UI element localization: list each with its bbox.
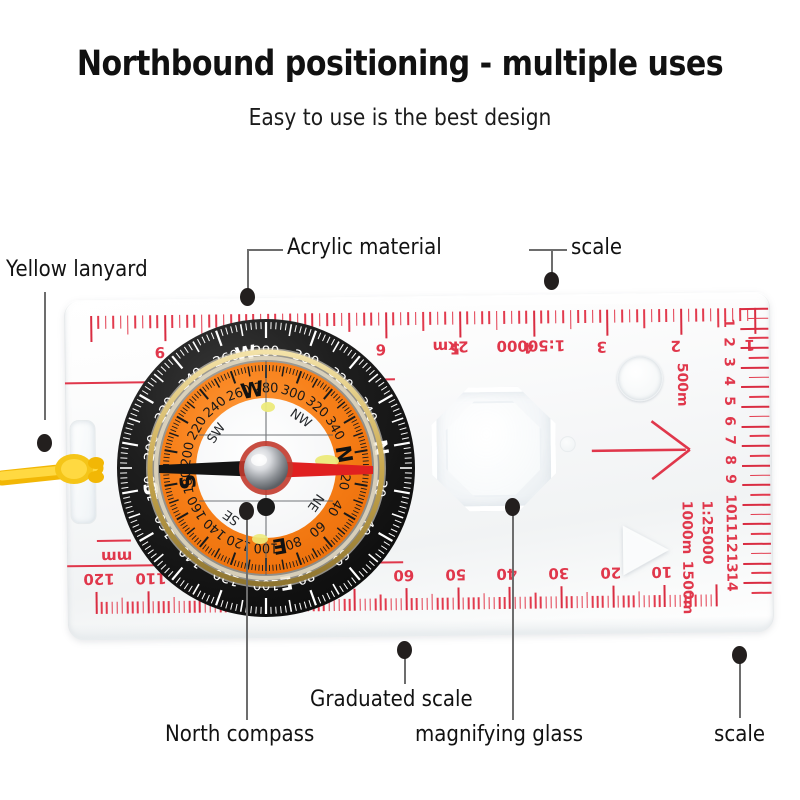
orienting-triangle-marker [623,525,670,576]
callout-dot-acrylic-material [240,288,255,306]
side-ruler-number: 4 [721,376,737,386]
mm-ruler-tick [592,596,594,608]
ruler-tick [496,311,498,330]
side-ruler-number: 10 [722,494,738,514]
ruler-tick [702,309,704,322]
ruler-tick [525,311,527,324]
side-ruler-tick [742,464,770,466]
side-ruler-number: 6 [721,416,737,426]
scale-2km-text: 2km [432,337,468,355]
callout-line-magnifying-glass [512,512,514,720]
mm-ruler-tick [111,602,113,614]
mm-ruler-tick [106,602,108,614]
mm-ruler-tick [638,591,640,607]
ruler-tick [688,309,690,322]
side-ruler-number: 2 [720,337,736,347]
bottom-ruler-number: 20 [600,564,621,582]
mm-ruler-tick [612,586,614,608]
ruler-tick [112,316,114,329]
side-ruler-number: 7 [722,435,738,445]
side-ruler-tick [742,484,770,486]
mm-ruler-tick [550,596,552,608]
ruler-tick [666,309,668,322]
side-ruler-tick [752,592,772,594]
side-ruler-tick [742,425,770,427]
ruler-tick [489,311,491,324]
mm-ruler-tick [483,593,485,609]
mm-ruler-tick [710,594,712,606]
pin-hole [560,436,576,452]
mm-ruler-tick [442,598,444,610]
side-ruler-tick [748,337,768,339]
callout-line-acrylic-vertical [247,249,249,291]
side-ruler-number: 12 [723,533,739,553]
ruler-tick [643,309,645,328]
ruler-tick [710,308,712,321]
mm-ruler-tick [628,595,630,607]
callout-line-yellow-lanyard [44,292,46,420]
dial-tick [164,478,170,479]
mm-ruler-tick [576,596,578,608]
side-ruler-tick [749,376,769,378]
callout-dot-north-compass [239,502,254,520]
mm-ruler-tick [659,595,661,607]
ruler-tick [422,312,424,331]
side-ruler-number: 9 [722,474,738,484]
mm-ruler-tick [617,596,619,608]
callout-label-scale-top: scale [571,235,622,260]
ruler-tick [459,311,461,337]
mm-ruler-tick [473,597,475,609]
bottom-ruler-number: 30 [548,564,569,582]
mm-ruler-tick [462,597,464,609]
callout-label-yellow-lanyard: Yellow lanyard [6,257,148,282]
side-ruler-tick [741,366,769,368]
side-ruler-number: 8 [722,455,738,465]
mm-ruler-tick [643,595,645,607]
side-ruler-tick [750,474,770,476]
callout-label-graduated-scale: Graduated scale [310,687,473,712]
ruler-tick [474,311,476,324]
infographic-page: Northbound positioning - multiple uses E… [0,0,800,800]
mm-ruler-tick [499,597,501,609]
ruler-tick [651,309,653,322]
top-ruler-number: 3 [597,338,608,356]
ruler-tick [429,312,431,325]
mm-ruler-tick [431,594,433,610]
page-subtitle: Easy to use is the best design [48,105,752,131]
side-ruler-tick [749,357,769,359]
ruler-tick [599,310,601,323]
callout-label-magnifying-glass: magnifying glass [415,722,583,747]
dial-tick [255,564,256,570]
mm-ruler-tick [437,598,439,610]
face-index-dot [257,498,275,516]
mm-ruler-tick [581,596,583,608]
side-ruler-tick [751,572,771,574]
dial-tick [362,478,368,479]
mm-ruler-tick [597,596,599,608]
mm-ruler-tick [468,597,470,609]
mm-ruler-tick [509,587,511,609]
ruler-tick [577,310,579,323]
ruler-tick [636,309,638,322]
callout-dot-magnifying-glass [505,498,520,516]
side-ruler-tick [749,415,769,417]
mm-ruler-tick [545,596,547,608]
ruler-tick [592,310,594,323]
ruler-tick [105,316,107,329]
ruler-tick [717,308,719,327]
ruler-tick [607,310,609,336]
ruler-tick [98,316,100,329]
side-ruler-tick [742,504,770,506]
ruler-tick [754,308,756,334]
ruler-tick [680,309,682,335]
mm-ruler-tick [514,597,516,609]
mm-ruler-tick [96,592,98,614]
north-compass-dial[interactable]: 2002202402602803003203402040608010012014… [115,317,417,619]
mm-ruler-tick [421,598,423,610]
side-ruler-tick [748,318,768,320]
mm-ruler-tick [607,596,609,608]
ruler-tick [511,311,513,324]
ruler-tick [555,310,557,323]
ruler-tick [444,312,446,325]
mm-ruler-tick [602,596,604,608]
ruler-tick [466,311,468,324]
mm-ruler-tick [654,595,656,607]
side-ruler-tick [743,543,771,545]
ruler-tick [437,312,439,325]
side-ruler-number: 11 [723,514,739,534]
mm-ruler-tick [101,602,103,614]
mm-ruler-tick [674,595,676,607]
mm-ruler-tick [457,588,459,610]
yellow-lanyard-cord [0,430,130,520]
side-ruler-tick [749,396,769,398]
mm-ruler-tick [623,596,625,608]
side-ruler-tick [751,553,771,555]
direction-of-travel-arrow-icon [589,415,700,486]
ruler-tick [518,311,520,324]
ruler-tick [695,309,697,322]
callout-label-north-compass: North compass [165,722,314,747]
callout-line-scale-bottom [739,658,741,718]
bottom-ruler-number: 50 [445,565,466,583]
ruler-tick [584,310,586,323]
scale-1500m-text: 1500m [679,561,696,615]
ruler-tick [548,310,550,323]
mm-ruler-tick [524,597,526,609]
callout-dot-graduated-scale [397,641,412,659]
top-ruler-number: 2 [671,337,682,355]
ruler-tick [90,316,92,342]
side-ruler-tick [743,523,771,525]
dial-tick [255,366,256,372]
magnifier-inner-lens [445,401,542,498]
callout-label-acrylic-material: Acrylic material [287,235,442,260]
mm-ruler-tick [571,596,573,608]
ruler-tick [503,311,505,324]
scale-500m-text: 500m [674,363,691,407]
ruler-tick [562,310,564,323]
callout-line-acrylic-horizontal [247,249,283,251]
callout-dot-yellow-lanyard [37,434,52,452]
side-ruler-tick [741,406,769,408]
side-ruler-tick [742,445,770,447]
bottom-ruler-number: 120 [83,570,115,588]
side-ruler-tick [750,435,770,437]
dial-tick [276,564,277,570]
side-ruler-tick [740,327,768,329]
dial-tick [362,457,368,458]
page-title: Northbound positioning - multiple uses [56,44,744,84]
mm-ruler-tick [555,596,557,608]
side-ruler-tick [751,533,771,535]
mm-ruler-tick [540,597,542,609]
mm-ruler-tick [452,598,454,610]
side-ruler-number: 13 [723,553,739,573]
bottom-ruler-number: 40 [497,565,518,583]
side-ruler-tick [741,386,769,388]
side-ruler-tick [750,455,770,457]
mm-ruler-tick [493,597,495,609]
dial-tick [164,457,170,458]
mm-ruler-tick [560,586,562,608]
ruler-tick [629,309,631,322]
scale-ratio-50000-text: 1:50000 [496,336,565,355]
ruler-tick [570,310,572,329]
ruler-tick [540,310,542,323]
ruler-tick [658,309,660,322]
callout-label-scale-bottom: scale [714,722,765,747]
ruler-tick [481,311,483,324]
mm-ruler-tick [504,597,506,609]
mm-ruler-tick [535,593,537,609]
mm-ruler-tick [566,596,568,608]
pivot-highlight [251,454,267,466]
mm-ruler-tick [586,592,588,608]
ruler-tick [673,309,675,322]
mm-ruler-tick [715,584,717,606]
pivot-cap [244,446,288,490]
mm-ruler-tick [669,595,671,607]
mm-ruler-tick [426,598,428,610]
ruler-tick [621,309,623,322]
ruler-tick [533,311,535,337]
mm-ruler-tick [648,595,650,607]
side-ruler-number: 3 [721,357,737,367]
callout-line-scale-top-horizontal [529,249,567,251]
scale-ratio-25000-text: 1:25000 [698,500,715,564]
callout-dot-scale-bottom [732,646,747,664]
side-ruler-number: 5 [721,396,737,406]
mm-ruler-tick [519,597,521,609]
side-ruler-tick [743,562,771,564]
side-ruler-tick [743,582,771,584]
side-ruler-tick [740,308,768,310]
side-ruler-tick [741,347,769,349]
callout-line-north-compass [246,512,248,720]
mm-ruler-tick [664,585,666,607]
side-ruler-number: 14 [723,572,739,592]
mm-ruler-tick [488,597,490,609]
ruler-tick [452,312,454,325]
mm-ruler-tick [633,595,635,607]
scale-1000m-text: 1000m [678,501,695,555]
mm-ruler-tick [447,598,449,610]
mm-ruler-tick [530,597,532,609]
callout-dot-scale-top [544,272,559,290]
dial-tick [276,366,277,372]
side-ruler-tick [751,513,771,515]
side-ruler-number: 1 [720,318,736,328]
ruler-tick [614,310,616,323]
side-ruler-tick [750,494,770,496]
mm-ruler-tick [705,594,707,606]
mm-ruler-tick [478,597,480,609]
mm-ruler-tick [700,595,702,607]
